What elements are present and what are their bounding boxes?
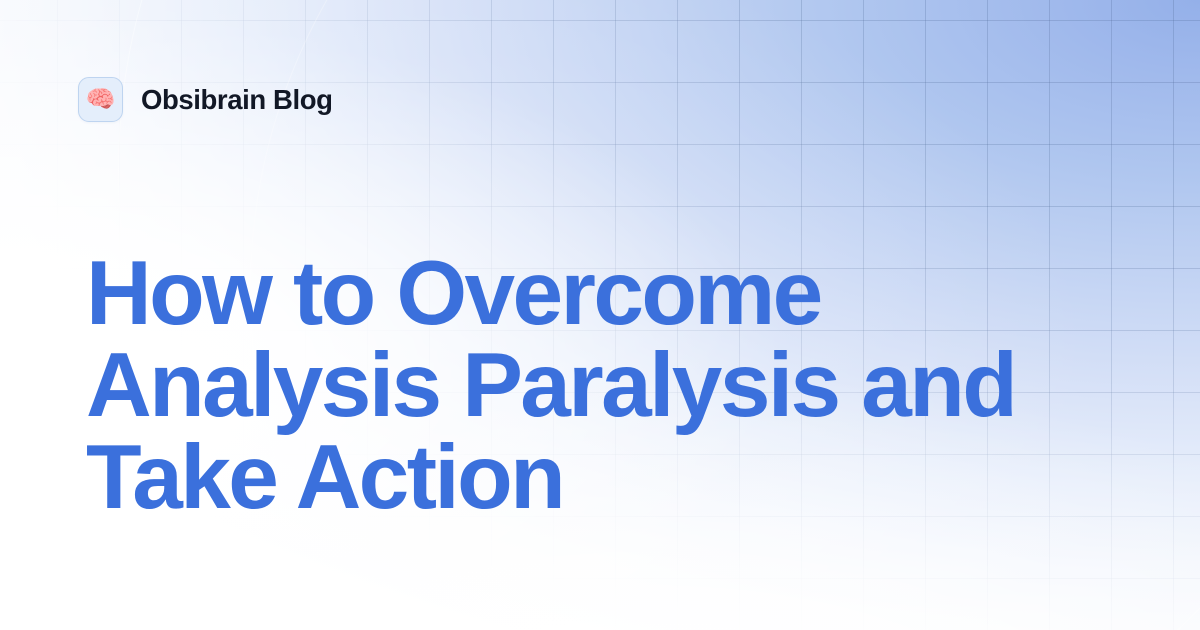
social-share-card: 🧠 Obsibrain Blog How to Overcome Analysi… [0, 0, 1200, 630]
card-content: 🧠 Obsibrain Blog How to Overcome Analysi… [0, 0, 1200, 630]
brand-lockup: 🧠 Obsibrain Blog [78, 77, 333, 122]
brand-name-label: Obsibrain Blog [141, 84, 333, 116]
brain-icon: 🧠 [86, 88, 116, 112]
brand-logo-tile: 🧠 [78, 77, 123, 122]
page-title: How to Overcome Analysis Paralysis and T… [86, 248, 1146, 524]
